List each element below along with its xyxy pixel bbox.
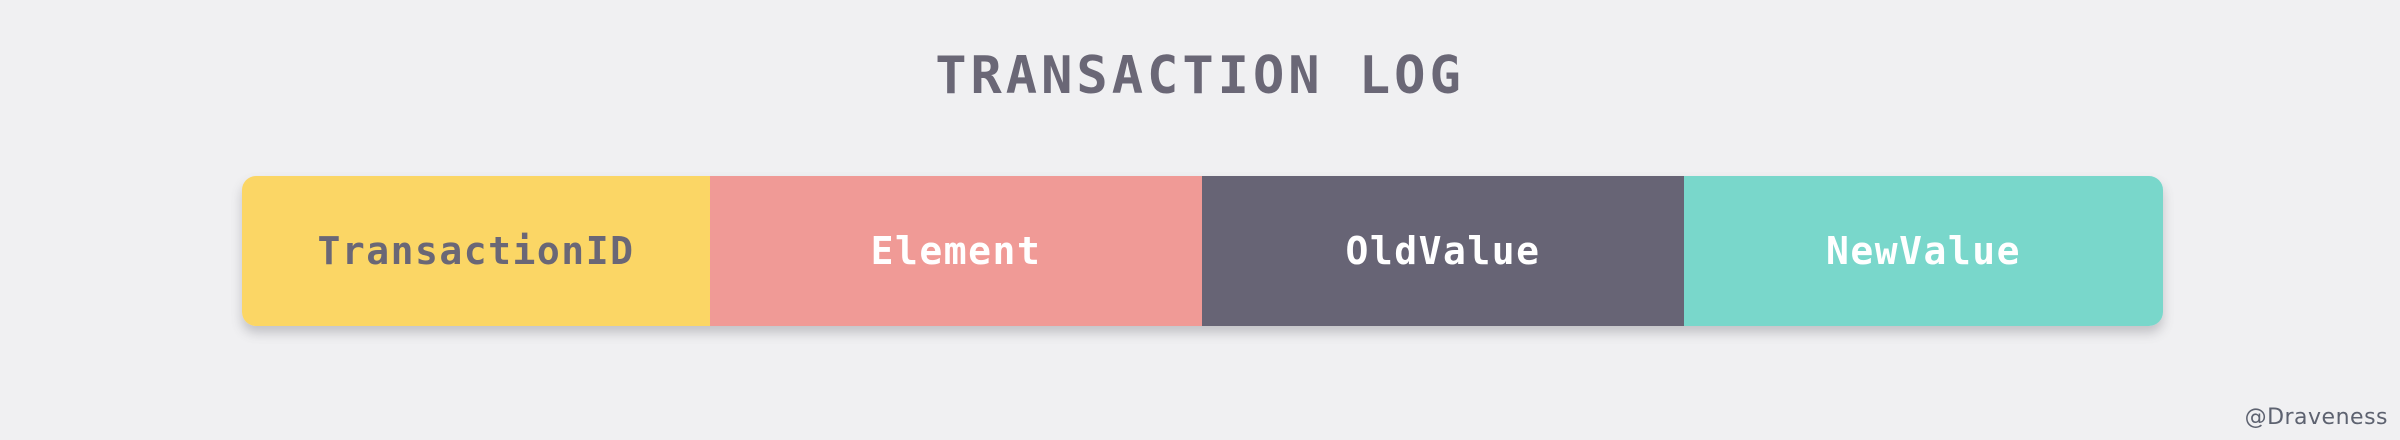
watermark: @Draveness bbox=[2245, 405, 2388, 430]
log-field-old-value: OldValue bbox=[1202, 176, 1684, 326]
log-field-label: TransactionID bbox=[318, 229, 635, 273]
log-field-label: OldValue bbox=[1345, 229, 1540, 273]
log-field-label: Element bbox=[871, 229, 1042, 273]
diagram-canvas: TRANSACTION LOG TransactionID Element Ol… bbox=[0, 0, 2400, 440]
log-field-element: Element bbox=[710, 176, 1202, 326]
page-title: TRANSACTION LOG bbox=[0, 46, 2400, 106]
log-field-label: NewValue bbox=[1826, 229, 2021, 273]
log-field-transaction-id: TransactionID bbox=[242, 176, 710, 326]
transaction-log-bar: TransactionID Element OldValue NewValue bbox=[242, 176, 2163, 326]
log-field-new-value: NewValue bbox=[1684, 176, 2163, 326]
